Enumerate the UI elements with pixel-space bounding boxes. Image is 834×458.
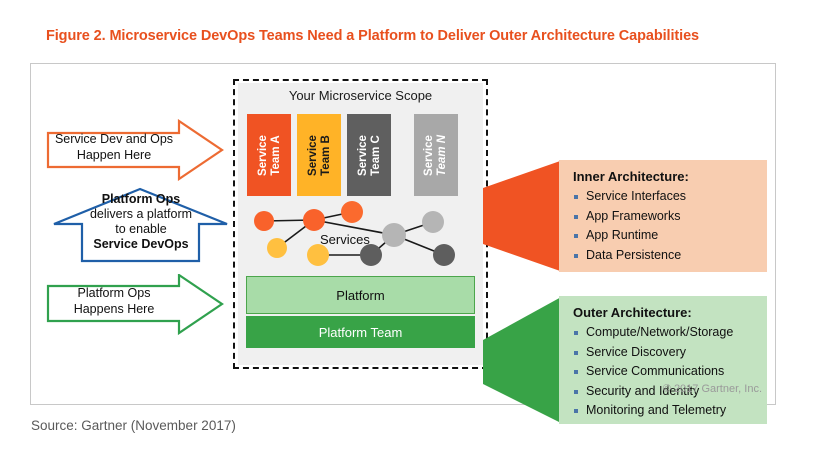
inner-architecture-list: Service Interfaces App Frameworks App Ru… [573,187,767,265]
inner-architecture-item: Service Interfaces [573,187,767,207]
services-network: Services [238,199,483,274]
scope-title: Your Microservice Scope [238,88,483,103]
callout-platform-ops-here-text: Platform Ops Happens Here [52,285,176,317]
inner-architecture-heading: Inner Architecture: [573,169,767,184]
services-network-node [267,238,287,258]
source-note: Source: Gartner (November 2017) [31,418,236,433]
outer-architecture-item: Compute/Network/Storage [573,323,767,343]
inner-architecture-item: Data Persistence [573,246,767,266]
services-network-node [433,244,455,266]
services-network-node [360,244,382,266]
callout-line-4: Service DevOps [82,237,200,252]
outer-architecture-heading: Outer Architecture: [573,305,767,320]
services-network-node [341,201,363,223]
outer-architecture-item: Service Discovery [573,343,767,363]
callout-platform-ops: Platform Ops delivers a platform to enab… [51,187,231,263]
service-team-b[interactable]: ServiceTeam B [297,114,341,196]
service-team-a-line2: Team A [269,135,281,175]
service-team-b-line2: Team B [319,135,331,176]
outer-architecture-list: Compute/Network/Storage Service Discover… [573,323,767,421]
inner-architecture-item: App Frameworks [573,207,767,227]
callout-platform-ops-here: Platform Ops Happens Here [46,274,224,336]
callout-line-1: Platform Ops [82,192,200,207]
outer-architecture-wedge [483,296,563,424]
figure-title: Figure 2. Microservice DevOps Teams Need… [46,28,699,44]
callout-service-dev-ops-text: Service Dev and Ops Happen Here [52,131,176,163]
callout-platform-ops-text: Platform Ops delivers a platform to enab… [82,192,200,252]
service-team-n[interactable]: ServiceTeam N [414,114,458,196]
service-team-n-line2: Team N [436,134,448,175]
inner-architecture-panel: Inner Architecture: Service Interfaces A… [559,160,767,272]
callout-service-dev-ops: Service Dev and Ops Happen Here [46,119,224,181]
callout-line-2: Happens Here [52,301,176,317]
services-network-node [382,223,406,247]
platform-box: Platform [246,276,475,314]
callout-line-2: delivers a platform [82,207,200,222]
figure-frame: Service Dev and Ops Happen Here Platform… [30,63,776,405]
service-team-b-line1: Service [307,135,319,176]
outer-architecture-item: Service Communications [573,362,767,382]
services-label: Services [320,232,370,247]
platform-team-box: Platform Team [246,316,475,348]
callout-line-3: to enable [82,222,200,237]
service-team-c-line2: Team C [369,135,381,176]
callout-line-1: Platform Ops [52,285,176,301]
services-network-node [303,209,325,231]
outer-wedge-shape [483,296,563,424]
callout-line-1: Service Dev and Ops [52,131,176,147]
service-team-a-line1: Service [257,135,269,176]
inner-architecture-item: App Runtime [573,226,767,246]
callout-line-2: Happen Here [52,147,176,163]
inner-architecture-wedge [483,160,563,272]
services-network-node [422,211,444,233]
services-network-node [307,244,329,266]
inner-wedge-shape [483,160,563,272]
copyright-note: © 2017 Gartner, Inc. [663,383,762,395]
service-team-c[interactable]: ServiceTeam C [347,114,391,196]
outer-architecture-item: Monitoring and Telemetry [573,401,767,421]
service-team-n-line1: Service [424,135,436,176]
services-network-node [254,211,274,231]
service-team-a[interactable]: ServiceTeam A [247,114,291,196]
service-team-c-line1: Service [357,135,369,176]
outer-architecture-panel: Outer Architecture: Compute/Network/Stor… [559,296,767,424]
